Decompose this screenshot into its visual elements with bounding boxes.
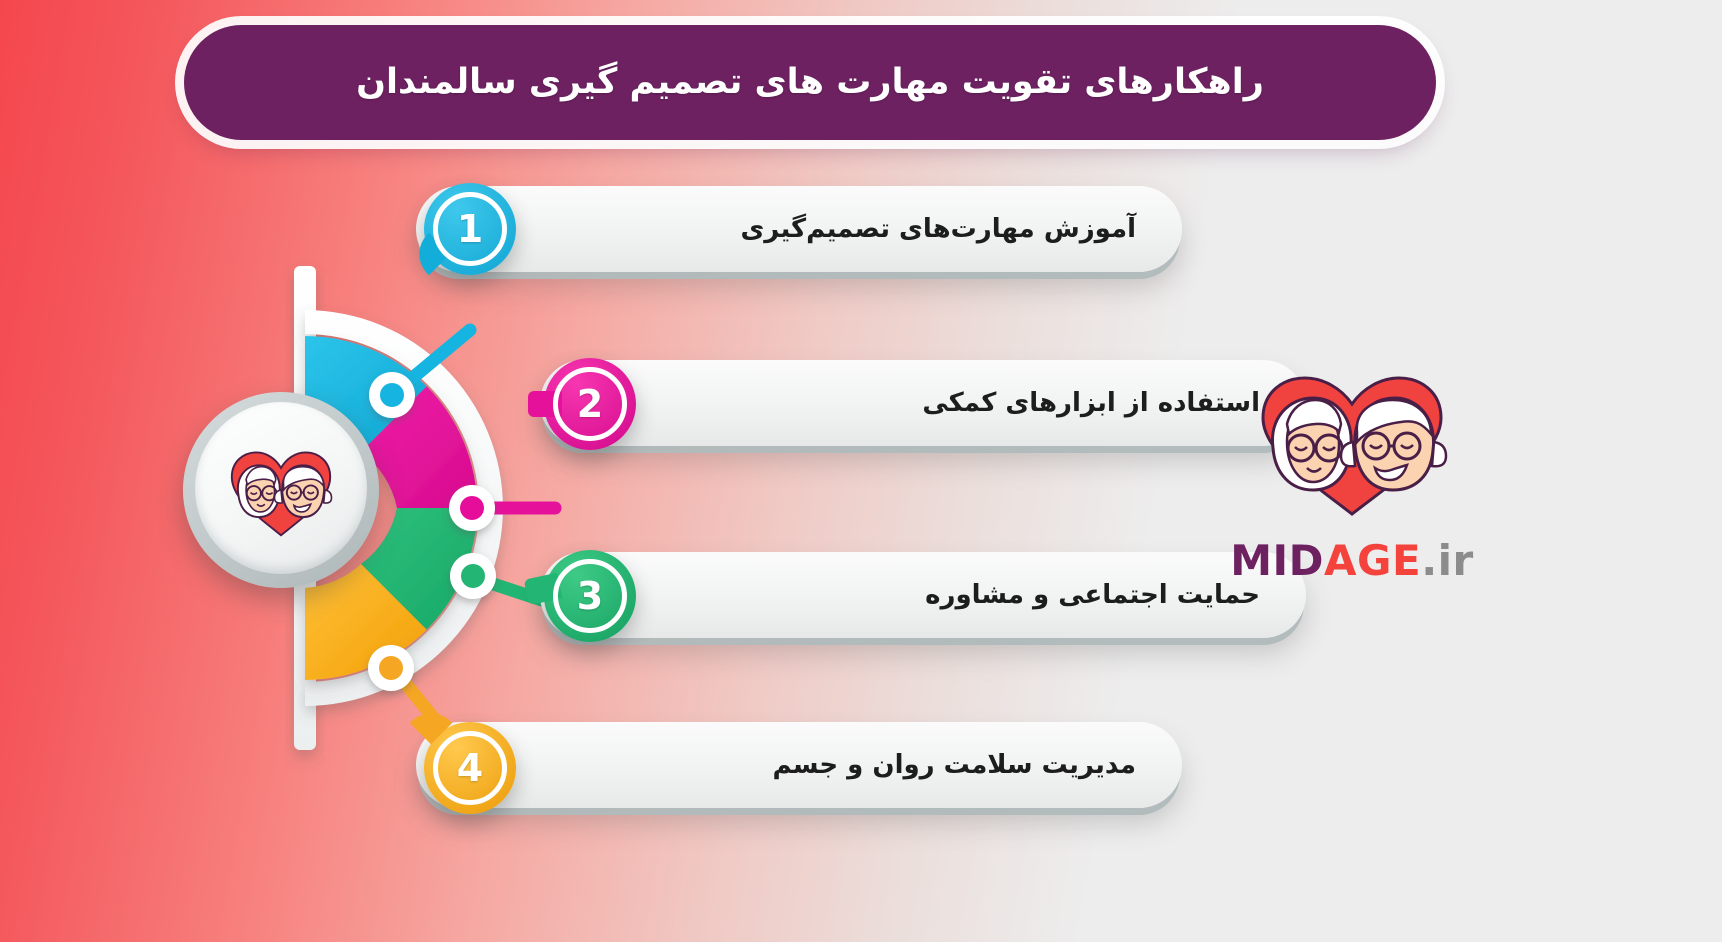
elderly-couple-heart-icon [216,433,346,543]
logo-elderly-couple-heart-icon [1237,372,1467,522]
item-number-1: 1 [457,210,483,248]
page-title-bar: راهکارهای تقویت مهارت های تصمیم گیری سال… [184,25,1436,140]
center-emblem [183,392,379,588]
logo-wordmark: MIDAGE.ir [1212,536,1492,585]
list-item-3[interactable]: حمایت اجتماعی و مشاوره 3 [540,552,1306,638]
item-number-3: 3 [577,577,603,615]
logo-text-mid: MID [1230,536,1324,585]
item-badge-3[interactable]: 3 [544,550,636,642]
item-label-2: استفاده از ابزارهای کمکی [922,388,1260,418]
item-badge-1[interactable]: 1 [424,183,516,275]
item-badge-2[interactable]: 2 [544,358,636,450]
item-label-4: مدیریت سلامت روان و جسم [773,750,1136,780]
item-label-1: آموزش مهارت‌های تصمیم‌گیری [740,214,1136,244]
item-badge-4[interactable]: 4 [424,722,516,814]
list-item-4[interactable]: مدیریت سلامت روان و جسم 4 [416,722,1182,808]
brand-logo: MIDAGE.ir [1212,372,1492,612]
item-number-4: 4 [457,749,483,787]
item-card-3[interactable]: حمایت اجتماعی و مشاوره [540,552,1306,638]
item-label-3: حمایت اجتماعی و مشاوره [925,580,1260,610]
logo-text-tld: .ir [1421,536,1474,585]
page-title: راهکارهای تقویت مهارت های تصمیم گیری سال… [316,61,1304,105]
list-item-2[interactable]: استفاده از ابزارهای کمکی 2 [540,360,1306,446]
logo-text-age: AGE [1324,536,1421,585]
infographic-canvas: راهکارهای تقویت مهارت های تصمیم گیری سال… [0,0,1722,942]
item-number-2: 2 [577,385,603,423]
center-emblem-inner [195,402,367,574]
list-item-1[interactable]: آموزش مهارت‌های تصمیم‌گیری 1 [416,186,1182,272]
item-card-2[interactable]: استفاده از ابزارهای کمکی [540,360,1306,446]
item-card-1[interactable]: آموزش مهارت‌های تصمیم‌گیری [416,186,1182,272]
item-card-4[interactable]: مدیریت سلامت روان و جسم [416,722,1182,808]
